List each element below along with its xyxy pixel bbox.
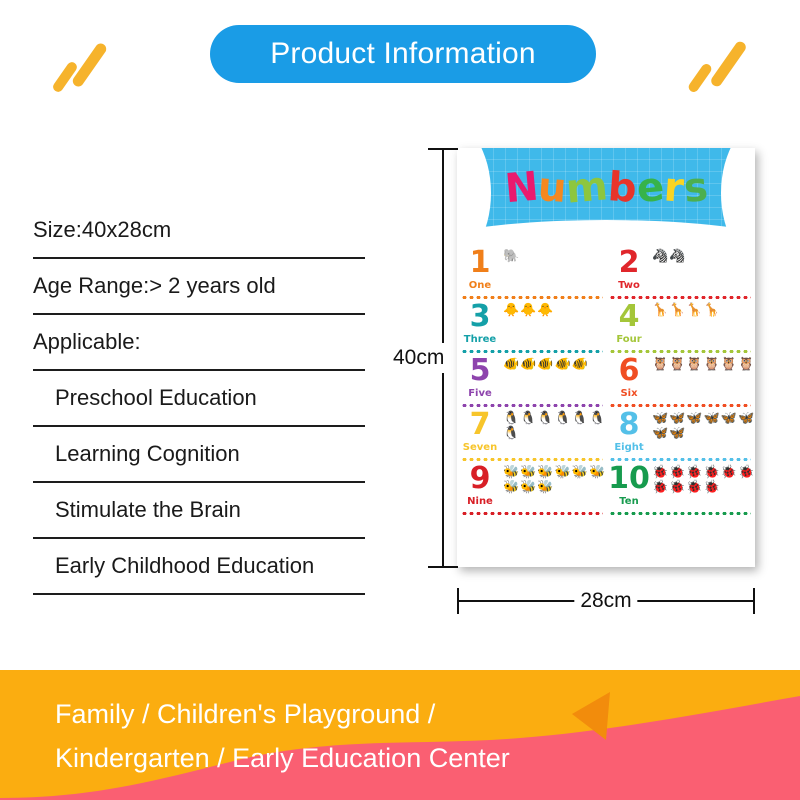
number-digit: 4	[606, 302, 652, 332]
penguin-icon: 🐧	[537, 411, 553, 425]
number-block: 10Ten	[606, 462, 652, 507]
slash-decor-right-short	[687, 62, 714, 94]
spec-row: Applicable:	[33, 315, 365, 371]
number-word: Ten	[606, 497, 652, 507]
number-cell: 1One🐘	[457, 246, 606, 300]
ladybug-icon: 🐞	[686, 480, 702, 494]
height-label: 40cm	[392, 343, 445, 373]
number-word: Seven	[457, 443, 503, 453]
number-digit: 8	[606, 410, 652, 440]
count-icons: 🐠🐠🐠🐠🐠	[503, 354, 606, 371]
number-cell: 8Eight🦋🦋🦋🦋🦋🦋🦋🦋	[606, 408, 755, 462]
count-icons: 🐘	[503, 246, 606, 263]
number-cell: 2Two🦓🦓	[606, 246, 755, 300]
butterfly-icon: 🦋	[652, 426, 668, 440]
bee-icon: 🐝	[555, 465, 571, 479]
poster-title-letter: u	[537, 167, 568, 209]
footer-line-2: Kindergarten / Early Education Center	[55, 736, 675, 780]
bee-icon: 🐝	[537, 465, 553, 479]
slash-decor-right-long	[709, 40, 748, 89]
number-word: Two	[606, 281, 652, 291]
ladybug-icon: 🐞	[686, 465, 702, 479]
count-icons: 🦓🦓	[652, 246, 755, 263]
count-icons: 🐥🐥🐥	[503, 300, 606, 317]
giraffe-icon: 🦒	[669, 303, 685, 317]
duck-icon: 🐥	[503, 303, 519, 317]
number-digit: 9	[457, 464, 503, 494]
penguin-icon: 🐧	[520, 411, 536, 425]
count-icons: 🦉🦉🦉🦉🦉🦉	[652, 354, 755, 371]
owl-icon: 🦉	[704, 357, 720, 371]
ladybug-icon: 🐞	[704, 465, 720, 479]
triangle-decor	[570, 690, 614, 742]
number-word: Nine	[457, 497, 503, 507]
spec-row: Preschool Education	[33, 371, 365, 427]
number-word: Five	[457, 389, 503, 399]
spec-row: Age Range:> 2 years old	[33, 259, 365, 315]
number-cell: 7Seven🐧🐧🐧🐧🐧🐧🐧	[457, 408, 606, 462]
giraffe-icon: 🦒	[652, 303, 668, 317]
number-block: 7Seven	[457, 408, 503, 453]
spec-label: Size:40x28cm	[33, 217, 171, 243]
fish-icon: 🐠	[537, 357, 553, 371]
poster-title-letter: e	[635, 167, 666, 209]
number-word: Four	[606, 335, 652, 345]
fish-icon: 🐠	[520, 357, 536, 371]
owl-icon: 🦉	[686, 357, 702, 371]
spec-label: Age Range:> 2 years old	[33, 273, 276, 299]
number-row: 5Five🐠🐠🐠🐠🐠6Six🦉🦉🦉🦉🦉🦉	[457, 354, 755, 408]
number-cell: 4Four🦒🦒🦒🦒	[606, 300, 755, 354]
footer-banner: Family / Children's Playground / Kinderg…	[0, 670, 800, 800]
butterfly-icon: 🦋	[652, 411, 668, 425]
fish-icon: 🐠	[572, 357, 588, 371]
specification-list: Size:40x28cmAge Range:> 2 years oldAppli…	[33, 203, 365, 595]
ladybug-icon: 🐞	[652, 480, 668, 494]
dotted-separator	[461, 512, 603, 515]
owl-icon: 🦉	[669, 357, 685, 371]
ladybug-icon: 🐞	[721, 465, 737, 479]
number-row: 7Seven🐧🐧🐧🐧🐧🐧🐧8Eight🦋🦋🦋🦋🦋🦋🦋🦋	[457, 408, 755, 462]
width-cap-right	[753, 588, 755, 614]
number-row: 9Nine🐝🐝🐝🐝🐝🐝🐝🐝🐝10Ten🐞🐞🐞🐞🐞🐞🐞🐞🐞🐞	[457, 462, 755, 516]
number-block: 8Eight	[606, 408, 652, 453]
number-word: Three	[457, 335, 503, 345]
poster-title-letter: r	[663, 167, 685, 208]
number-word: Six	[606, 389, 652, 399]
number-digit: 3	[457, 302, 503, 332]
number-block: 4Four	[606, 300, 652, 345]
number-row: 3Three🐥🐥🐥4Four🦒🦒🦒🦒	[457, 300, 755, 354]
spec-label: Preschool Education	[33, 385, 257, 411]
butterfly-icon: 🦋	[686, 411, 702, 425]
number-digit: 7	[457, 410, 503, 440]
fish-icon: 🐠	[503, 357, 519, 371]
page-title-badge: Product Information	[210, 25, 596, 83]
duck-icon: 🐥	[520, 303, 536, 317]
bee-icon: 🐝	[503, 465, 519, 479]
spec-row: Learning Cognition	[33, 427, 365, 483]
penguin-icon: 🐧	[503, 426, 519, 440]
bee-icon: 🐝	[572, 465, 588, 479]
elephant-icon: 🐘	[503, 249, 519, 263]
bee-icon: 🐝	[537, 480, 553, 494]
count-icons: 🐞🐞🐞🐞🐞🐞🐞🐞🐞🐞	[652, 462, 755, 494]
count-icons: 🐝🐝🐝🐝🐝🐝🐝🐝🐝	[503, 462, 606, 494]
zebra-icon: 🦓	[652, 249, 668, 263]
fish-icon: 🐠	[555, 357, 571, 371]
header: Product Information	[0, 0, 800, 110]
banner-cutout-bottom	[457, 220, 755, 244]
spec-row: Early Childhood Education	[33, 539, 365, 595]
butterfly-icon: 🦋	[669, 411, 685, 425]
width-dimension: 28cm	[457, 588, 755, 614]
owl-icon: 🦉	[652, 357, 668, 371]
number-word: Eight	[606, 443, 652, 453]
number-digit: 5	[457, 356, 503, 386]
butterfly-icon: 🦋	[721, 411, 737, 425]
bee-icon: 🐝	[503, 480, 519, 494]
spec-label: Stimulate the Brain	[33, 497, 241, 523]
ladybug-icon: 🐞	[738, 465, 754, 479]
penguin-icon: 🐧	[555, 411, 571, 425]
bee-icon: 🐝	[520, 480, 536, 494]
height-dimension: 40cm	[398, 148, 460, 568]
ladybug-icon: 🐞	[669, 480, 685, 494]
number-digit: 6	[606, 356, 652, 386]
number-block: 5Five	[457, 354, 503, 399]
butterfly-icon: 🦋	[738, 411, 754, 425]
spec-row: Stimulate the Brain	[33, 483, 365, 539]
number-cell: 6Six🦉🦉🦉🦉🦉🦉	[606, 354, 755, 408]
duck-icon: 🐥	[537, 303, 553, 317]
penguin-icon: 🐧	[572, 411, 588, 425]
number-word: One	[457, 281, 503, 291]
product-poster: Numbers 1One🐘2Two🦓🦓3Three🐥🐥🐥4Four🦒🦒🦒🦒5Fi…	[457, 148, 755, 567]
number-row: 1One🐘2Two🦓🦓	[457, 246, 755, 300]
count-icons: 🦋🦋🦋🦋🦋🦋🦋🦋	[652, 408, 755, 440]
number-block: 6Six	[606, 354, 652, 399]
poster-title: Numbers	[457, 168, 755, 208]
number-cell: 5Five🐠🐠🐠🐠🐠	[457, 354, 606, 408]
poster-title-letter: b	[607, 167, 638, 209]
dotted-separator	[609, 512, 751, 515]
number-cell: 10Ten🐞🐞🐞🐞🐞🐞🐞🐞🐞🐞	[606, 462, 755, 516]
penguin-icon: 🐧	[589, 411, 605, 425]
poster-card: Numbers 1One🐘2Two🦓🦓3Three🐥🐥🐥4Four🦒🦒🦒🦒5Fi…	[457, 148, 755, 567]
number-digit: 1	[457, 248, 503, 278]
owl-icon: 🦉	[721, 357, 737, 371]
zebra-icon: 🦓	[669, 249, 685, 263]
ladybug-icon: 🐞	[652, 465, 668, 479]
width-label: 28cm	[574, 589, 637, 613]
number-digit: 2	[606, 248, 652, 278]
poster-banner: Numbers	[457, 148, 755, 244]
ladybug-icon: 🐞	[704, 480, 720, 494]
giraffe-icon: 🦒	[704, 303, 720, 317]
number-rows: 1One🐘2Two🦓🦓3Three🐥🐥🐥4Four🦒🦒🦒🦒5Five🐠🐠🐠🐠🐠6…	[457, 246, 755, 561]
owl-icon: 🦉	[738, 357, 754, 371]
number-block: 3Three	[457, 300, 503, 345]
number-block: 1One	[457, 246, 503, 291]
count-icons: 🐧🐧🐧🐧🐧🐧🐧	[503, 408, 606, 440]
poster-title-letter: N	[503, 167, 540, 210]
number-digit: 10	[606, 464, 652, 494]
bee-icon: 🐝	[520, 465, 536, 479]
butterfly-icon: 🦋	[704, 411, 720, 425]
number-block: 2Two	[606, 246, 652, 291]
ladybug-icon: 🐞	[669, 465, 685, 479]
spec-row: Size:40x28cm	[33, 203, 365, 259]
spec-label: Early Childhood Education	[33, 553, 314, 579]
height-cap-bottom	[428, 566, 458, 568]
spec-label: Learning Cognition	[33, 441, 240, 467]
giraffe-icon: 🦒	[686, 303, 702, 317]
butterfly-icon: 🦋	[669, 426, 685, 440]
bee-icon: 🐝	[589, 465, 605, 479]
penguin-icon: 🐧	[503, 411, 519, 425]
spec-label: Applicable:	[33, 329, 141, 355]
count-icons: 🦒🦒🦒🦒	[652, 300, 755, 317]
page-title: Product Information	[270, 37, 536, 71]
number-cell: 9Nine🐝🐝🐝🐝🐝🐝🐝🐝🐝	[457, 462, 606, 516]
number-block: 9Nine	[457, 462, 503, 507]
number-cell: 3Three🐥🐥🐥	[457, 300, 606, 354]
poster-title-letter: s	[682, 167, 709, 209]
poster-title-letter: m	[565, 166, 610, 209]
